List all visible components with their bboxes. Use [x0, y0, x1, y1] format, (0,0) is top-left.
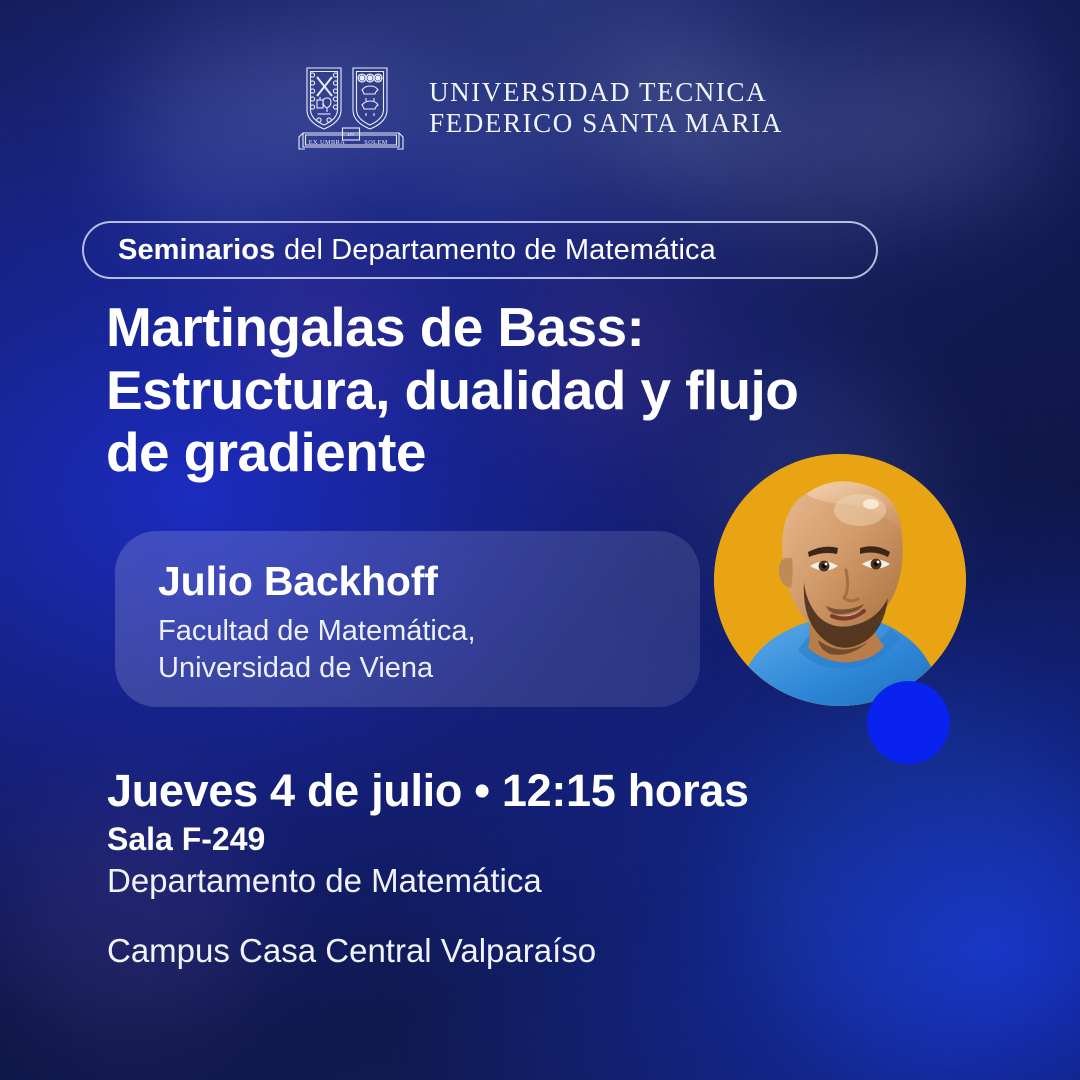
badge-strong-label: Seminarios: [118, 234, 275, 267]
event-department: Departamento de Matemática: [107, 861, 987, 901]
institution-name: UNIVERSIDAD TECNICA FEDERICO SANTA MARIA: [429, 77, 783, 140]
event-room: Sala F-249: [107, 820, 987, 858]
event-date-time: Jueves 4 de julio • 12:15 horas: [107, 766, 987, 816]
speaker-name: Julio Backhoff: [158, 556, 718, 607]
speaker-affiliation: Facultad de Matemática, Universidad de V…: [158, 613, 718, 687]
speaker-info: Julio Backhoff Facultad de Matemática, U…: [158, 556, 718, 687]
crest-motto-center: IN: [348, 132, 355, 138]
speaker-portrait-photo: [714, 454, 966, 706]
event-campus: Campus Casa Central Valparaíso: [107, 931, 987, 971]
seminar-series-badge: Seminarios del Departamento de Matemátic…: [82, 221, 878, 279]
crest-motto-right: SOLEM: [364, 139, 387, 146]
event-details: Jueves 4 de julio • 12:15 horas Sala F-2…: [107, 766, 987, 971]
speaker-portrait: [714, 454, 966, 706]
usm-crest-logo: EX UMBRA IN SOLEM: [297, 62, 405, 154]
institution-header: EX UMBRA IN SOLEM UNIVERSIDAD TECNICA FE…: [0, 62, 1080, 154]
badge-rest-label: del Departamento de Matemática: [284, 234, 716, 267]
accent-dot: [867, 681, 950, 764]
seminar-poster: EX UMBRA IN SOLEM UNIVERSIDAD TECNICA FE…: [0, 0, 1080, 1080]
crest-motto-left: EX UMBRA: [309, 139, 346, 146]
